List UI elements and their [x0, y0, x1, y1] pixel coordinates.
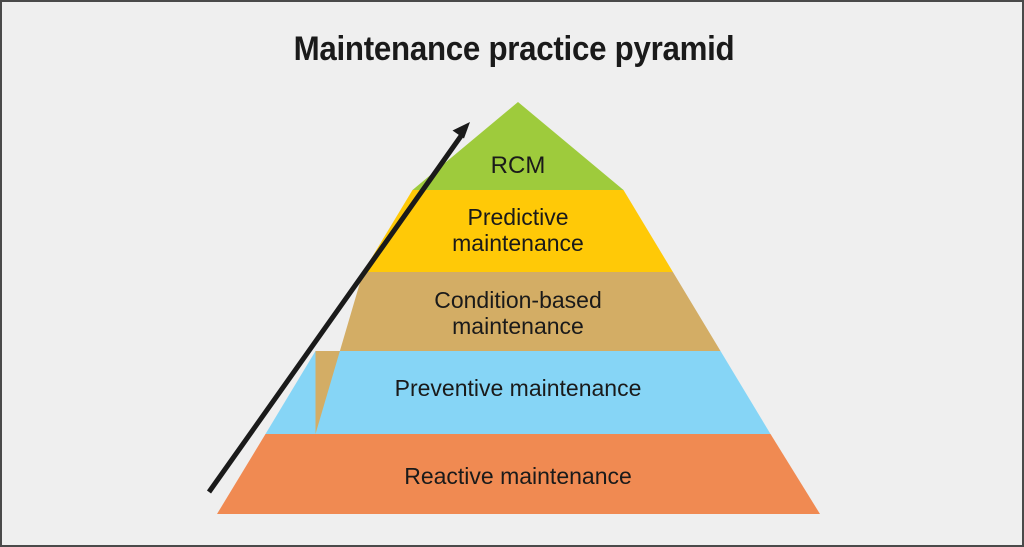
pyramid-tier-predictive-maintenance[interactable] [363, 190, 673, 272]
pyramid-diagram [2, 2, 1024, 547]
pyramid-tier-rcm[interactable] [413, 102, 624, 190]
pyramid-tier-preventive-maintenance[interactable] [266, 351, 771, 434]
pyramid-tier-reactive-maintenance[interactable] [217, 434, 820, 514]
figure-canvas: Maintenance practice pyramid RCM Predict… [0, 0, 1024, 547]
